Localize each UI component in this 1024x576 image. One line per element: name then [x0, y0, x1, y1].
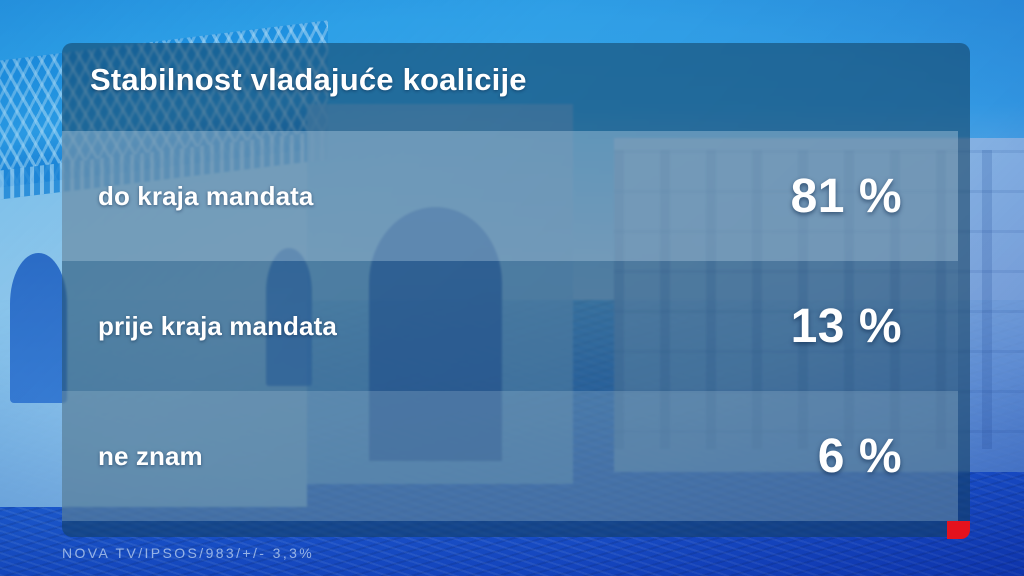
- table-row: do kraja mandata 81 %: [62, 131, 958, 261]
- source-attribution: NOVA TV/IPSOS/983/+/- 3,3%: [62, 545, 314, 561]
- row-value: 13 %: [791, 299, 902, 354]
- broadcast-poll-graphic: Stabilnost vladajuće koalicije do kraja …: [0, 0, 1024, 576]
- table-row: prije kraja mandata 13 %: [62, 261, 958, 391]
- row-value: 81 %: [791, 169, 902, 224]
- row-value: 6 %: [818, 429, 902, 484]
- row-label: do kraja mandata: [98, 181, 313, 212]
- table-row: ne znam 6 %: [62, 391, 958, 521]
- brand-accent-mark: [947, 521, 970, 539]
- row-label: ne znam: [98, 441, 203, 472]
- row-label: prije kraja mandata: [98, 311, 337, 342]
- page-title: Stabilnost vladajuće koalicije: [90, 62, 527, 98]
